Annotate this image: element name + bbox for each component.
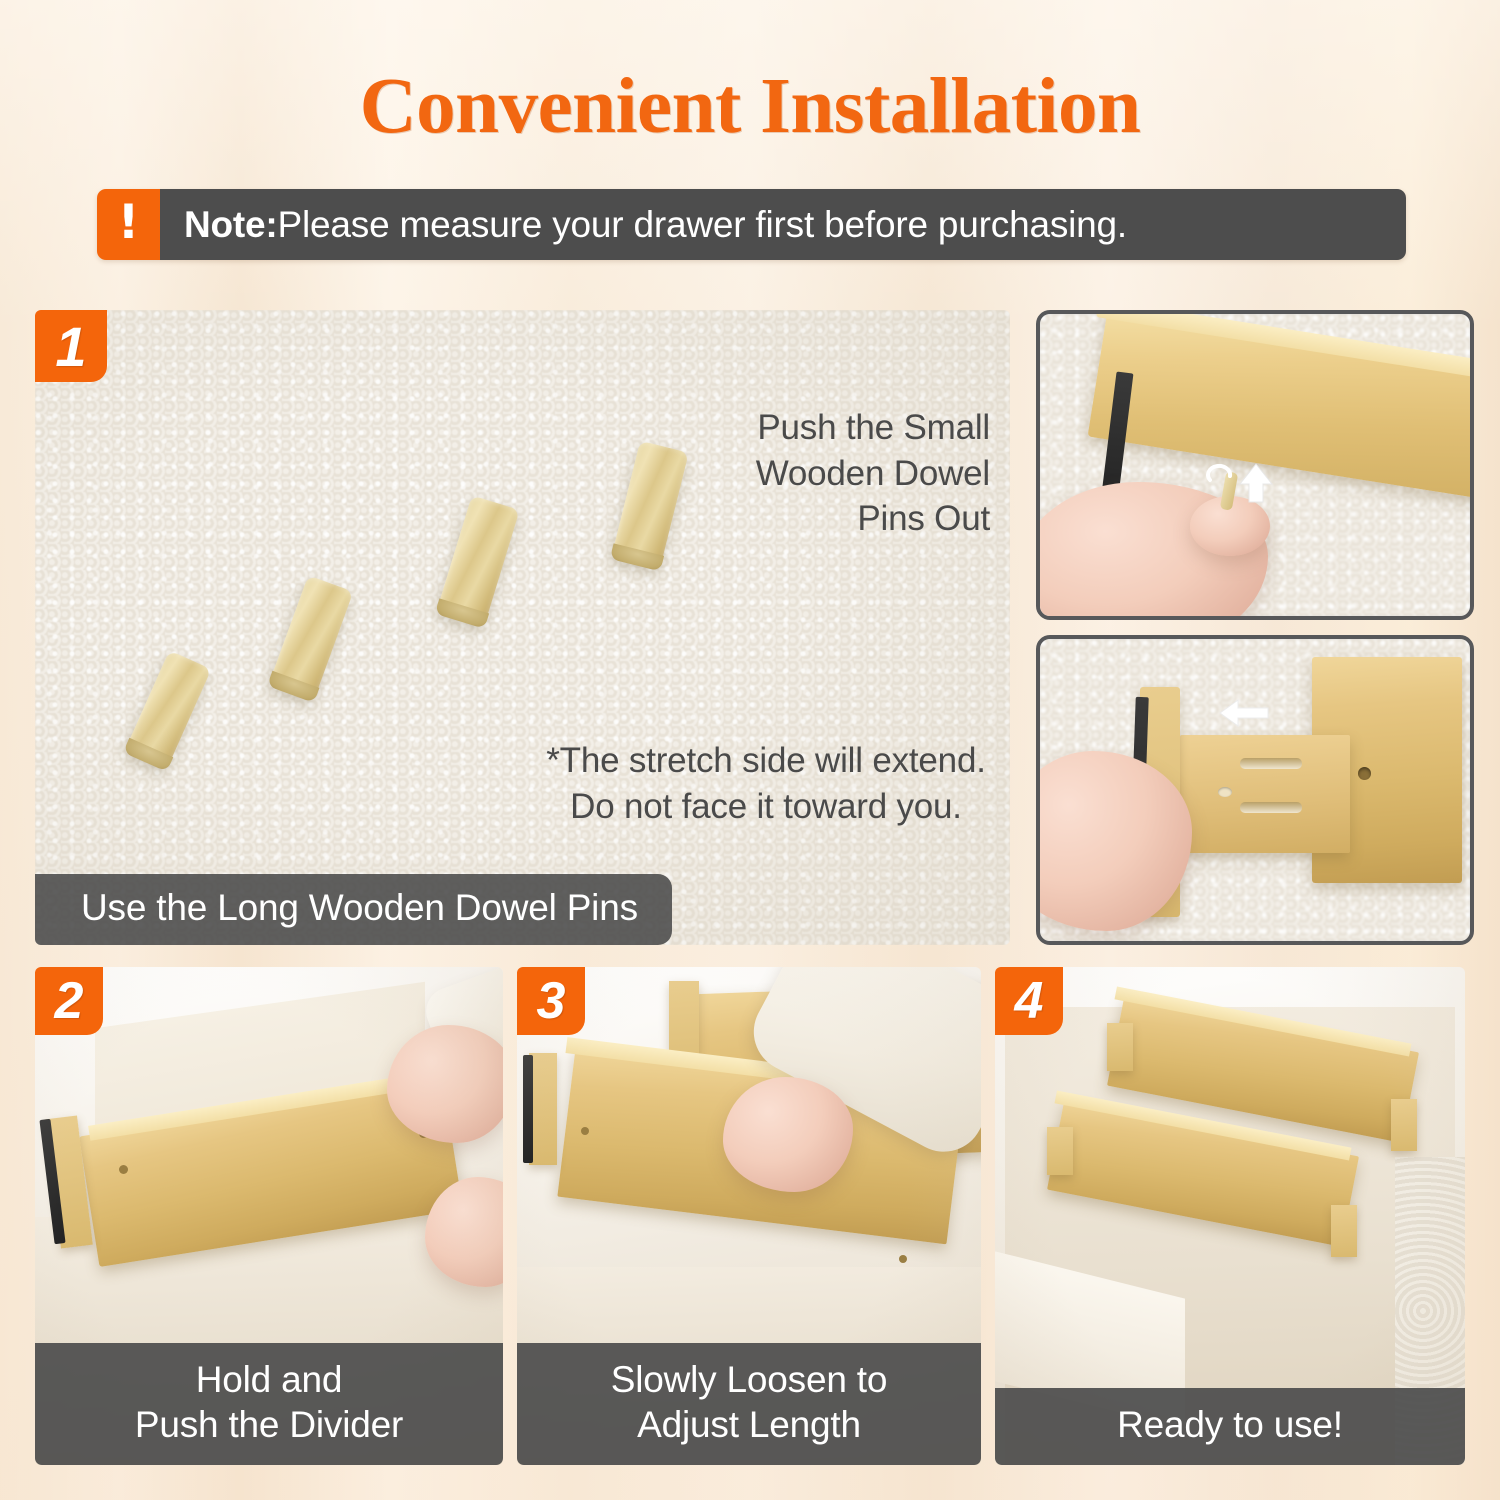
step-number-badge: 4 bbox=[995, 967, 1063, 1035]
annotation-line: Push the Small bbox=[660, 405, 990, 451]
rail-slot bbox=[1240, 802, 1302, 813]
left-arrow-icon bbox=[1218, 697, 1270, 729]
annotation-line: Pins Out bbox=[660, 496, 990, 542]
step-4-caption: Ready to use! bbox=[995, 1388, 1465, 1465]
infographic-root: Convenient Installation ! Note: Please m… bbox=[0, 0, 1500, 1500]
step-number-badge: 1 bbox=[35, 310, 107, 382]
caption-line: Hold and bbox=[41, 1357, 497, 1402]
step-2-panel: 2 Hold and Push the Divider bbox=[35, 967, 503, 1465]
annotation-line: Do not face it toward you. bbox=[536, 784, 996, 830]
caption-line: Slowly Loosen to bbox=[523, 1357, 975, 1402]
step-2-caption: Hold and Push the Divider bbox=[35, 1343, 503, 1465]
step-number-badge: 3 bbox=[517, 967, 585, 1035]
step-3-caption: Slowly Loosen to Adjust Length bbox=[517, 1343, 981, 1465]
annotation-line: *The stretch side will extend. bbox=[536, 738, 996, 784]
caption-line: Push the Divider bbox=[41, 1402, 497, 1447]
note-message: Please measure your drawer first before … bbox=[278, 204, 1127, 246]
step-4-panel: 4 Ready to use! bbox=[995, 967, 1465, 1465]
annotation-stretch-side: *The stretch side will extend. Do not fa… bbox=[536, 738, 996, 829]
note-text-container: Note: Please measure your drawer first b… bbox=[160, 189, 1406, 260]
up-arrow-icon bbox=[1236, 462, 1276, 504]
rail-slot bbox=[1240, 758, 1302, 769]
step-1-caption: Use the Long Wooden Dowel Pins bbox=[35, 874, 672, 945]
caption-line: Ready to use! bbox=[1001, 1402, 1459, 1447]
bamboo-sliding-rail bbox=[1180, 735, 1350, 853]
subpanel-push-divider-closed bbox=[1036, 635, 1474, 945]
annotation-push-pins: Push the Small Wooden Dowel Pins Out bbox=[660, 405, 990, 542]
note-label: Note: bbox=[184, 204, 278, 246]
note-banner: ! Note: Please measure your drawer first… bbox=[97, 189, 1406, 260]
step-3-panel: 3 Slowly Loosen to Adjust Length bbox=[517, 967, 981, 1465]
annotation-line: Wooden Dowel bbox=[660, 451, 990, 497]
rail-pin-hole bbox=[1218, 787, 1232, 797]
caption-line: Adjust Length bbox=[523, 1402, 975, 1447]
step-1-panel: 1 Push the Small Wooden Dowel Pins Out *… bbox=[35, 310, 1010, 945]
page-title: Convenient Installation bbox=[0, 62, 1500, 152]
subpanel-pull-dowel-pin-out bbox=[1036, 310, 1474, 620]
exclamation-icon: ! bbox=[97, 189, 160, 260]
bamboo-board-hole bbox=[1358, 767, 1371, 780]
circle-highlight-icon bbox=[1206, 464, 1236, 492]
step-number-badge: 2 bbox=[35, 967, 103, 1035]
